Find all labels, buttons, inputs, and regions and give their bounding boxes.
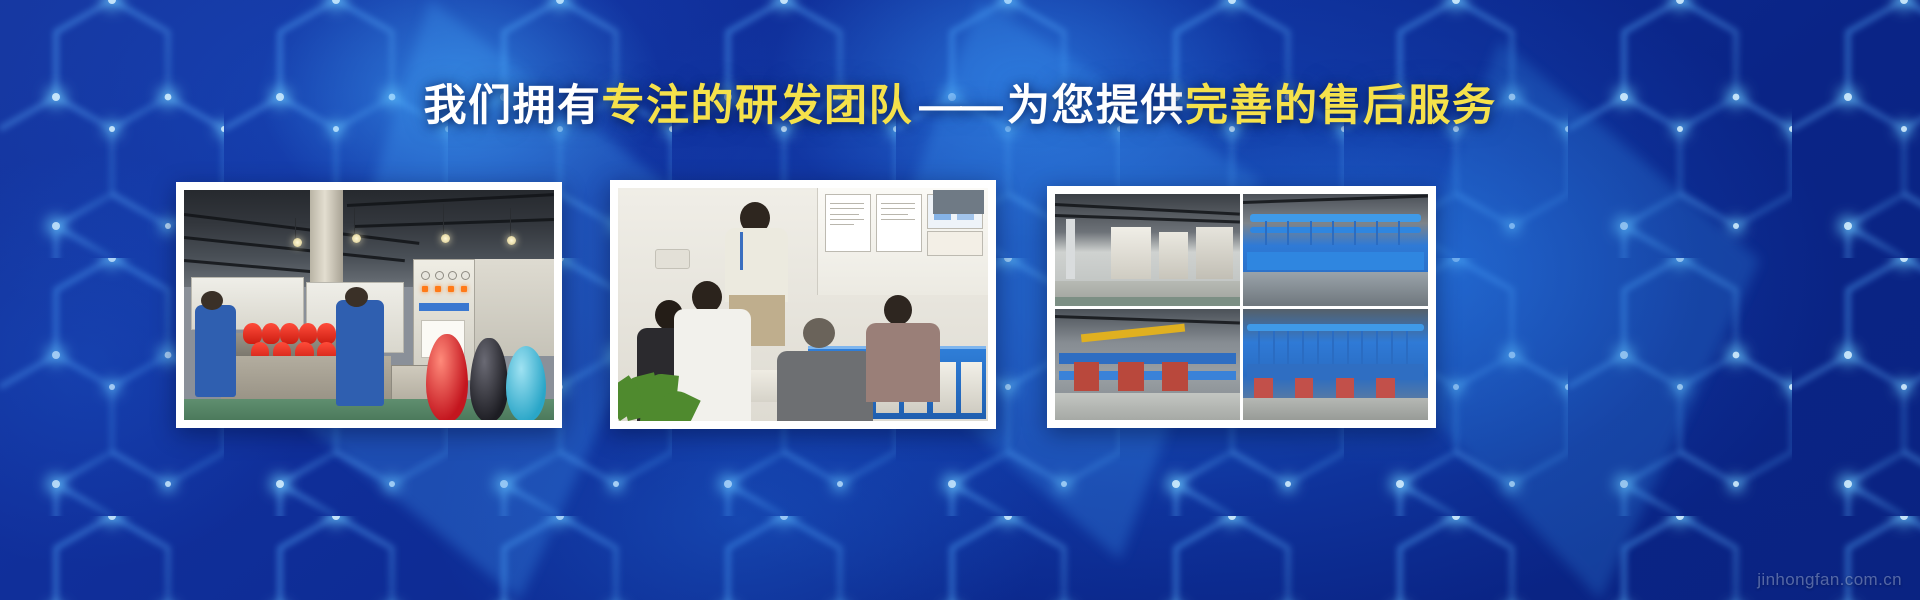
- photo-rnd-meeting: [618, 188, 988, 421]
- collage-cell-hanging-line: [1243, 309, 1428, 421]
- collage-cell-blue-conveyor: [1243, 194, 1428, 306]
- photo-workshop-collage: [1055, 194, 1428, 420]
- photo-panel-workshop-collage[interactable]: [1047, 186, 1436, 428]
- photo-production-line: [184, 190, 554, 420]
- site-watermark: jinhongfan.com.cn: [1757, 570, 1902, 590]
- collage-cell-oven-line: [1055, 194, 1240, 306]
- photo-panel-group: [0, 0, 1920, 600]
- collage-cell-assembly-rail: [1055, 309, 1240, 421]
- photo-panel-production-line[interactable]: [176, 182, 562, 428]
- photo-panel-rnd-meeting[interactable]: [610, 180, 996, 429]
- foreground-vase-dark: [470, 338, 508, 420]
- hero-banner: 我们拥有专注的研发团队——为您提供完善的售后服务: [0, 0, 1920, 600]
